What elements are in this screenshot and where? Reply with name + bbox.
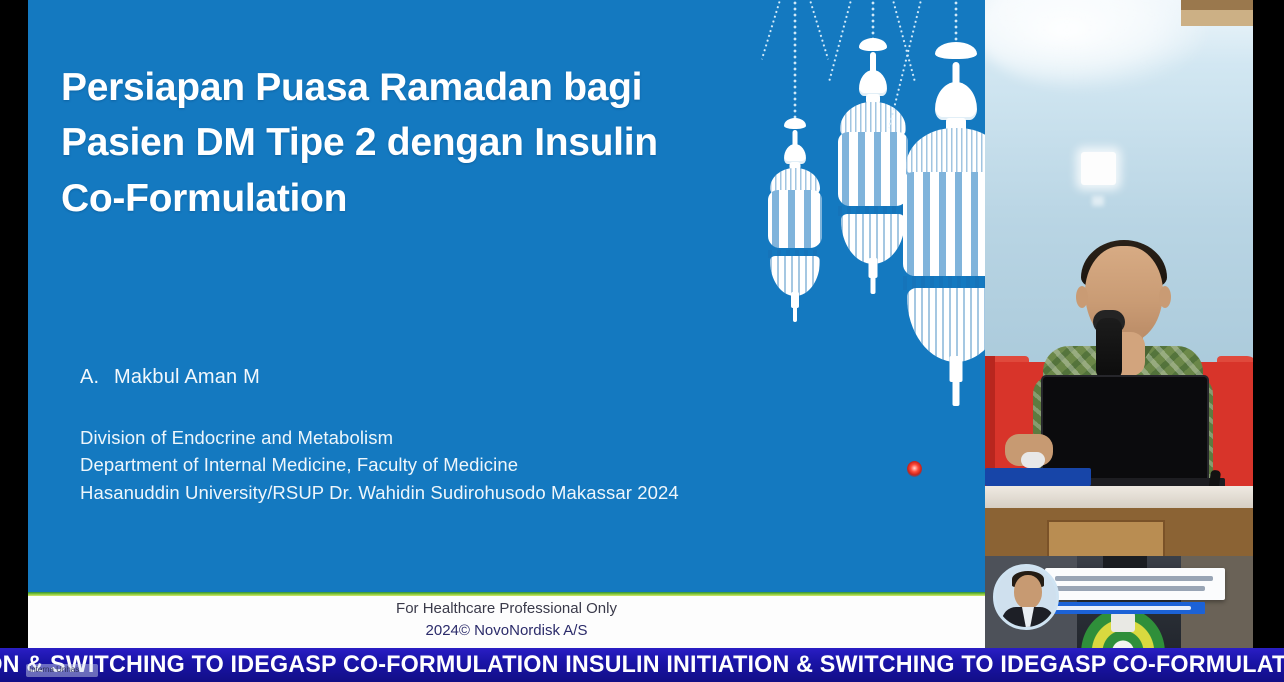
door-frame-shadow — [1181, 0, 1253, 10]
secondary-video-feed[interactable] — [985, 556, 1253, 648]
pip-avatar[interactable] — [993, 564, 1059, 630]
slide-author: A.Makbul Aman M — [80, 366, 260, 389]
shared-screen-area[interactable]: Persiapan Puasa Ramadan bagi Pasien DM T… — [0, 0, 985, 648]
speaker-video-feed[interactable] — [985, 0, 1253, 648]
presenter-ear-right — [1159, 286, 1171, 308]
wall-light-switch — [1081, 152, 1116, 185]
slide-footer: For Healthcare Professional Only 2024© N… — [28, 596, 985, 648]
video-panel[interactable] — [985, 0, 1284, 648]
affiliation-line-3: Hasanuddin University/RSUP Dr. Wahidin S… — [80, 479, 679, 506]
mouse-icon — [1021, 452, 1045, 468]
pip-banner-line-2 — [1055, 586, 1205, 591]
pip-name-text — [1053, 606, 1191, 610]
ticker-watermark: Interna Unhas — [26, 664, 98, 677]
pip-banner-line-1 — [1055, 576, 1213, 581]
slide-title-line-1: Persiapan Puasa Ramadan bagi — [61, 60, 751, 115]
presenter-ear-left — [1076, 286, 1088, 308]
slide-title-line-2: Pasien DM Tipe 2 dengan Insulin — [61, 115, 751, 170]
scrolling-ticker-bar: ATION & SWITCHING TO IDEGASP CO-FORMULAT… — [0, 648, 1284, 682]
laser-pointer-dot — [907, 461, 922, 477]
slide-title-line-3: Co-Formulation — [61, 171, 751, 226]
slide-title: Persiapan Puasa Ramadan bagi Pasien DM T… — [61, 60, 751, 226]
screen-share-meeting-view: Persiapan Puasa Ramadan bagi Pasien DM T… — [0, 0, 1284, 682]
wall-light-glare — [985, 0, 1205, 90]
ticker-watermark-text: Interna Unhas — [29, 665, 79, 674]
slide-affiliation: Division of Endocrine and Metabolism Dep… — [80, 424, 679, 506]
pip-avatar-head — [1014, 575, 1042, 609]
microphone-icon — [1096, 318, 1122, 380]
footer-line-2: 2024© NovoNordisk A/S — [28, 620, 985, 642]
laptop-screen — [1041, 375, 1209, 481]
video-letterbox-right — [1253, 0, 1284, 648]
footer-line-1: For Healthcare Professional Only — [28, 598, 985, 620]
slide-footer-text: For Healthcare Professional Only 2024© N… — [28, 598, 985, 642]
affiliation-line-2: Department of Internal Medicine, Faculty… — [80, 451, 679, 478]
desk-top — [985, 486, 1253, 508]
affiliation-line-1: Division of Endocrine and Metabolism — [80, 424, 679, 451]
pip-name-bar — [1045, 602, 1205, 614]
blue-folder — [985, 468, 1091, 486]
pip-lower-third-banner — [1045, 568, 1225, 600]
presentation-slide[interactable]: Persiapan Puasa Ramadan bagi Pasien DM T… — [28, 0, 985, 592]
ticker-text: ATION & SWITCHING TO IDEGASP CO-FORMULAT… — [0, 650, 1284, 680]
lantern-large-icon — [886, 0, 985, 420]
author-name: Makbul Aman M — [114, 366, 260, 388]
author-initial: A. — [80, 366, 114, 389]
wall-mark — [1092, 196, 1104, 206]
